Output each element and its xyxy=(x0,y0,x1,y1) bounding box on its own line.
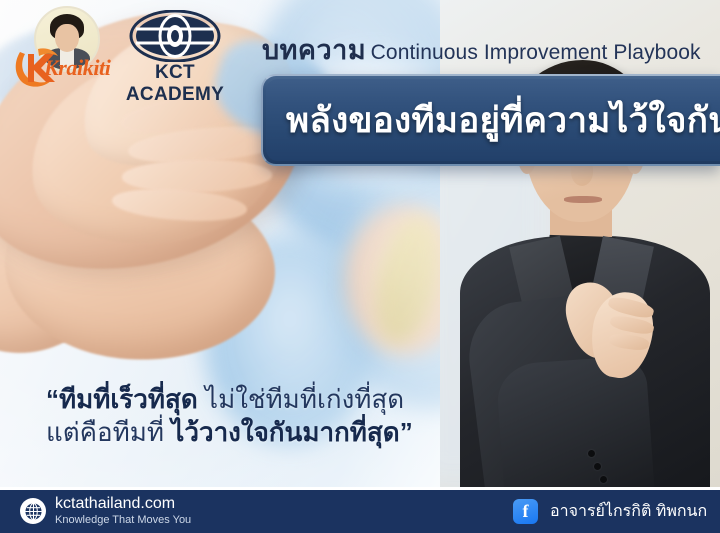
kraikiti-wordmark: Kraikiti xyxy=(44,55,111,81)
jacket-button xyxy=(600,476,607,483)
quote-line-2: แต่คือทีมที่ ไว้วางใจกันมากที่สุด” xyxy=(46,416,446,449)
quote-line1-bold: ทีมที่เร็วที่สุด xyxy=(59,384,198,414)
quote-close-mark: ” xyxy=(400,417,413,447)
article-poster: Kraikiti KCT ACADEMY บทความ Continuous I… xyxy=(0,0,720,533)
quote-line-1: “ทีมที่เร็วที่สุด ไม่ใช่ทีมที่เก่งที่สุด xyxy=(46,383,446,416)
quote-line1-regular: ไม่ใช่ทีมที่เก่งที่สุด xyxy=(198,384,404,414)
jacket-button xyxy=(588,450,595,457)
header-category-th: บทความ xyxy=(262,35,366,65)
footer-website-group[interactable]: kctathailand.com Knowledge That Moves Yo… xyxy=(20,496,191,527)
quote-line2-regular: แต่คือทีมที่ xyxy=(46,417,171,447)
kct-academy-logo[interactable]: KCT ACADEMY xyxy=(105,10,245,86)
jacket-button xyxy=(594,463,601,470)
mouth-shape xyxy=(564,196,602,203)
footer-website[interactable]: kctathailand.com xyxy=(55,496,191,513)
suit-arm xyxy=(495,355,654,492)
quote-open-mark: “ xyxy=(46,384,59,414)
quote-block: “ทีมที่เร็วที่สุด ไม่ใช่ทีมที่เก่งที่สุด… xyxy=(46,383,446,449)
footer-facebook-group[interactable]: f อาจารย์ไกรกิติ ทิพกนก xyxy=(513,499,707,524)
header-title-en: Continuous Improvement Playbook xyxy=(371,41,701,64)
page-title: บทความ Continuous Improvement Playbook xyxy=(262,28,701,71)
headline-banner-inner: พลังของทีมอยู่ที่ความไว้ใจกัน xyxy=(266,79,720,161)
kraikiti-logo[interactable]: Kraikiti xyxy=(14,6,104,92)
footer-bar: kctathailand.com Knowledge That Moves Yo… xyxy=(0,490,720,533)
footer-facebook-name[interactable]: อาจารย์ไกรกิติ ทิพกนก xyxy=(550,499,707,524)
footer-tagline: Knowledge That Moves You xyxy=(55,514,191,527)
globe-emblem-icon xyxy=(105,10,245,62)
globe-icon xyxy=(20,498,46,524)
headline-banner: พลังของทีมอยู่ที่ความไว้ใจกัน xyxy=(261,74,720,166)
headline-text: พลังของทีมอยู่ที่ความไว้ใจกัน xyxy=(266,93,720,148)
facebook-icon[interactable]: f xyxy=(513,499,538,524)
quote-line2-bold: ไว้วางใจกันมากที่สุด xyxy=(171,417,399,447)
kct-wordmark: KCT ACADEMY xyxy=(105,62,245,106)
